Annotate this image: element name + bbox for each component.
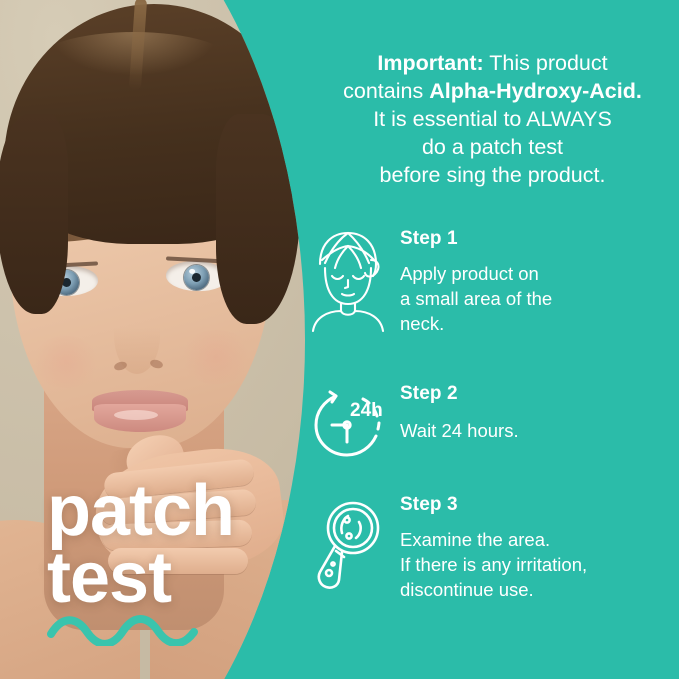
notice-important-label: Important: bbox=[377, 51, 483, 75]
notice-line-1: Important: This product bbox=[305, 50, 679, 78]
step-1-body-line-3: neck. bbox=[400, 311, 552, 336]
wave-icon bbox=[46, 612, 216, 646]
patch-test-infographic: patch test Important: This product conta… bbox=[0, 0, 679, 679]
step-2-text: Step 2 Wait 24 hours. bbox=[390, 383, 519, 443]
clock-24h-label: 24h bbox=[350, 400, 382, 421]
step-3-text: Step 3 Examine the area. If there is any… bbox=[390, 494, 587, 602]
nostril-left bbox=[113, 360, 128, 371]
cheek-right bbox=[178, 330, 254, 384]
notice-line-3: It is essential to ALWAYS bbox=[305, 106, 679, 134]
important-notice: Important: This product contains Alpha-H… bbox=[305, 50, 679, 190]
face bbox=[10, 18, 272, 448]
step-3-body-line-3: discontinue use. bbox=[400, 577, 587, 602]
step-3: Step 3 Examine the area. If there is any… bbox=[306, 494, 679, 602]
page-title: patch test bbox=[47, 478, 234, 612]
step-2: 24h Step 2 Wait 24 hours. bbox=[306, 383, 679, 457]
step-3-body-line-2: If there is any irritation, bbox=[400, 552, 587, 577]
step-1-body-line-2: a small area of the bbox=[400, 286, 552, 311]
step-1-text: Step 1 Apply product on a small area of … bbox=[390, 228, 552, 336]
step-1-body-line-1: Apply product on bbox=[400, 261, 552, 286]
step-3-body: Examine the area. If there is any irrita… bbox=[400, 527, 587, 602]
instructions-panel: Important: This product contains Alpha-H… bbox=[306, 0, 679, 679]
magnifying-glass-skin-icon bbox=[315, 500, 381, 590]
step-3-body-line-1: Examine the area. bbox=[400, 527, 587, 552]
step-1-icon-wrap bbox=[306, 228, 390, 334]
eye-glint-right bbox=[189, 269, 195, 274]
notice-line-2: contains Alpha-Hydroxy-Acid. bbox=[305, 78, 679, 106]
nostril-right bbox=[149, 358, 164, 369]
step-2-body-line-1: Wait 24 hours. bbox=[400, 418, 519, 443]
hair-side-left bbox=[0, 114, 68, 314]
step-3-title: Step 3 bbox=[400, 494, 587, 516]
lip-highlight bbox=[114, 410, 158, 420]
step-1-body: Apply product on a small area of the nec… bbox=[400, 261, 552, 336]
pupil-right bbox=[192, 273, 201, 282]
notice-line-2-lead: contains bbox=[343, 79, 429, 103]
step-1-title: Step 1 bbox=[400, 228, 552, 250]
step-2-title: Step 2 bbox=[400, 383, 519, 405]
step-3-icon-wrap bbox=[306, 494, 390, 590]
notice-line-4: do a patch test bbox=[305, 134, 679, 162]
face-with-hair-towel-icon bbox=[311, 230, 385, 334]
step-2-icon-wrap: 24h bbox=[306, 383, 390, 457]
cheek-left bbox=[30, 336, 102, 388]
notice-line-1-rest: This product bbox=[484, 51, 608, 75]
iris-right bbox=[184, 265, 210, 291]
step-2-body: Wait 24 hours. bbox=[400, 418, 519, 443]
clock-24h-icon: 24h bbox=[314, 389, 382, 457]
notice-ingredient: Alpha-Hydroxy-Acid. bbox=[429, 79, 642, 103]
notice-line-5: before sing the product. bbox=[305, 162, 679, 190]
step-1: Step 1 Apply product on a small area of … bbox=[306, 228, 679, 336]
wavy-underline bbox=[46, 612, 216, 646]
headline-line-2: test bbox=[47, 545, 234, 612]
